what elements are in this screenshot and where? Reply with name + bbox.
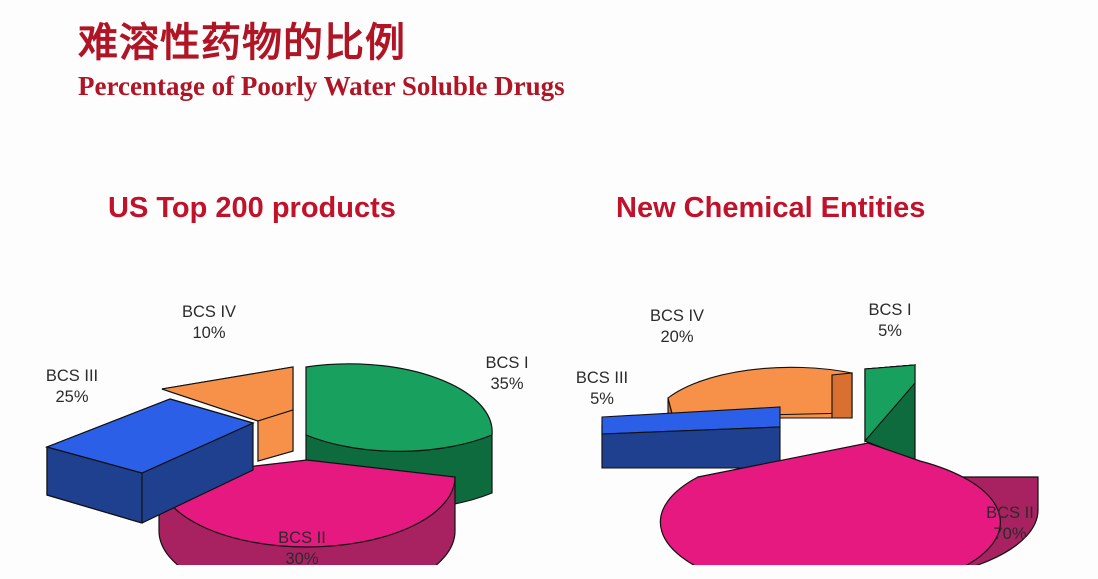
pie-label-bcs4-name: BCS IV xyxy=(182,303,236,321)
pie-label-bcs2-value: 30% xyxy=(285,550,318,565)
pie-label-bcs1-value: 35% xyxy=(490,375,523,393)
pie-label-bcs4-value: 10% xyxy=(192,324,225,342)
pie-label-bcs1: BCS I 5% xyxy=(868,301,911,340)
pie-label-bcs3-value: 5% xyxy=(590,390,614,408)
slide-title-block: 难溶性药物的比例 Percentage of Poorly Water Solu… xyxy=(78,22,565,102)
pie-label-bcs3-name: BCS III xyxy=(576,369,628,387)
pie-label-bcs2-value: 70% xyxy=(993,525,1026,543)
chart-heading-new-chemical-entities: New Chemical Entities xyxy=(616,192,925,225)
pie-label-bcs3-name: BCS III xyxy=(46,367,98,385)
pie-label-bcs1: BCS I 35% xyxy=(485,354,528,393)
pie-slice-bcs3[interactable] xyxy=(602,407,780,468)
pie-label-bcs1-value: 5% xyxy=(878,322,902,340)
pie-chart-new-chemical-entities: BCS IV 20% BCS III 5% BCS I 5% BCS II 70… xyxy=(560,255,1090,565)
title-english: Percentage of Poorly Water Soluble Drugs xyxy=(78,70,565,102)
pie-label-bcs4-value: 20% xyxy=(660,328,693,346)
pie-label-bcs4: BCS IV 10% xyxy=(182,303,236,342)
pie-label-bcs3: BCS III 25% xyxy=(46,367,98,406)
chart-heading-us-top-200: US Top 200 products xyxy=(108,192,396,225)
pie-label-bcs3-value: 25% xyxy=(55,388,88,406)
pie-chart-us-top-200: BCS IV 10% BCS III 25% BCS I 35% BCS II … xyxy=(10,255,550,565)
pie-label-bcs4: BCS IV 20% xyxy=(650,307,704,346)
pie-label-bcs3: BCS III 5% xyxy=(576,369,628,408)
pie-label-bcs2-name: BCS II xyxy=(278,529,326,547)
pie-label-bcs4-name: BCS IV xyxy=(650,307,704,325)
pie-label-bcs1-name: BCS I xyxy=(868,301,911,319)
pie-label-bcs2-name: BCS II xyxy=(986,504,1034,522)
slide-canvas: 难溶性药物的比例 Percentage of Poorly Water Solu… xyxy=(0,0,1098,579)
title-chinese: 难溶性药物的比例 xyxy=(78,22,565,64)
pie-label-bcs1-name: BCS I xyxy=(485,354,528,372)
